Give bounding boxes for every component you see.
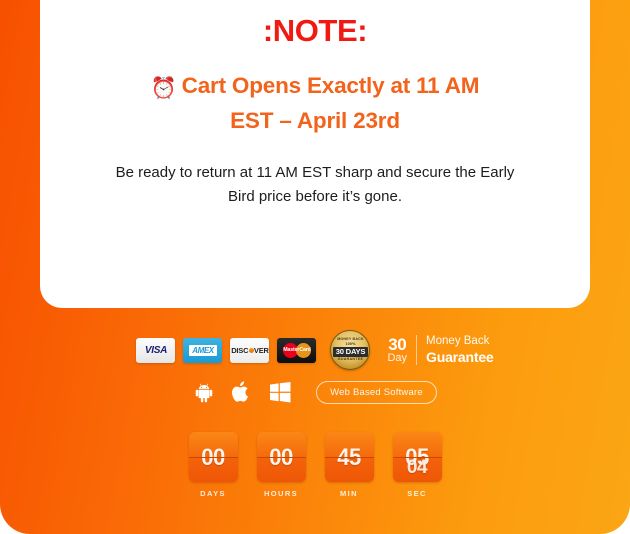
countdown-label-hours: HOURS xyxy=(257,489,306,498)
promo-panel: :NOTE: ⏰Cart Opens Exactly at 11 AM EST … xyxy=(0,0,630,534)
android-icon xyxy=(193,381,215,403)
discover-orb-icon xyxy=(249,348,254,353)
mastercard-card-icon: MasterCard xyxy=(277,338,316,363)
min-bottom-value: 45 xyxy=(325,457,374,482)
trust-badges-row: VISA AMEX DISCVER MasterCard MONEY BACK … xyxy=(0,330,630,370)
guarantee-text-block: 30 Day Money Back Guarantee xyxy=(387,335,493,365)
countdown-unit-hours: 00 00 HOURS xyxy=(257,432,306,498)
cart-opens-heading: ⏰Cart Opens Exactly at 11 AM EST – April… xyxy=(115,70,515,137)
countdown-unit-sec: 05 05 04 SEC xyxy=(393,432,442,498)
page-title: :NOTE: xyxy=(64,14,566,48)
cart-heading-line-1: Cart Opens Exactly at 11 AM xyxy=(182,73,480,98)
sec-flipping-value: 04 xyxy=(393,457,442,480)
countdown-unit-days: 00 00 DAYS xyxy=(189,432,238,498)
note-body-text: Be ready to return at 11 AM EST sharp an… xyxy=(115,161,515,210)
days-top-value: 00 xyxy=(189,432,238,457)
note-card: :NOTE: ⏰Cart Opens Exactly at 11 AM EST … xyxy=(40,0,590,308)
alarm-clock-icon: ⏰ xyxy=(151,77,177,100)
visa-card-icon: VISA xyxy=(136,338,175,363)
flip-tile-min: 45 45 xyxy=(325,432,374,482)
flip-tile-sec: 05 05 04 xyxy=(393,432,442,482)
apple-icon xyxy=(231,380,252,404)
discover-card-icon: DISCVER xyxy=(230,338,269,363)
countdown-label-days: DAYS xyxy=(189,489,238,498)
countdown-unit-min: 45 45 MIN xyxy=(325,432,374,498)
countdown-timer: 00 00 DAYS 00 00 HOURS 45 xyxy=(0,432,630,498)
min-top-value: 45 xyxy=(325,432,374,457)
flip-tile-days: 00 00 xyxy=(189,432,238,482)
thirty-day-block: 30 Day xyxy=(387,336,407,364)
web-based-software-badge: Web Based Software xyxy=(316,381,437,404)
days-bottom-value: 00 xyxy=(189,457,238,482)
money-back-label-block: Money Back Guarantee xyxy=(426,335,493,365)
money-back-guarantee-seal-icon: MONEY BACK 100% 30 DAYS GUARANTEE xyxy=(330,330,370,370)
mastercard-circles-icon: MasterCard xyxy=(283,342,311,359)
platform-icons-row: Web Based Software xyxy=(0,380,630,404)
vertical-divider xyxy=(416,335,417,365)
cart-heading-line-2: EST – April 23rd xyxy=(230,108,400,133)
countdown-label-min: MIN xyxy=(325,489,374,498)
hours-bottom-value: 00 xyxy=(257,457,306,482)
windows-icon xyxy=(268,380,292,404)
flip-tile-hours: 00 00 xyxy=(257,432,306,482)
countdown-label-sec: SEC xyxy=(393,489,442,498)
amex-card-icon: AMEX xyxy=(183,338,222,363)
sec-top-value: 05 xyxy=(393,432,442,457)
hours-top-value: 00 xyxy=(257,432,306,457)
